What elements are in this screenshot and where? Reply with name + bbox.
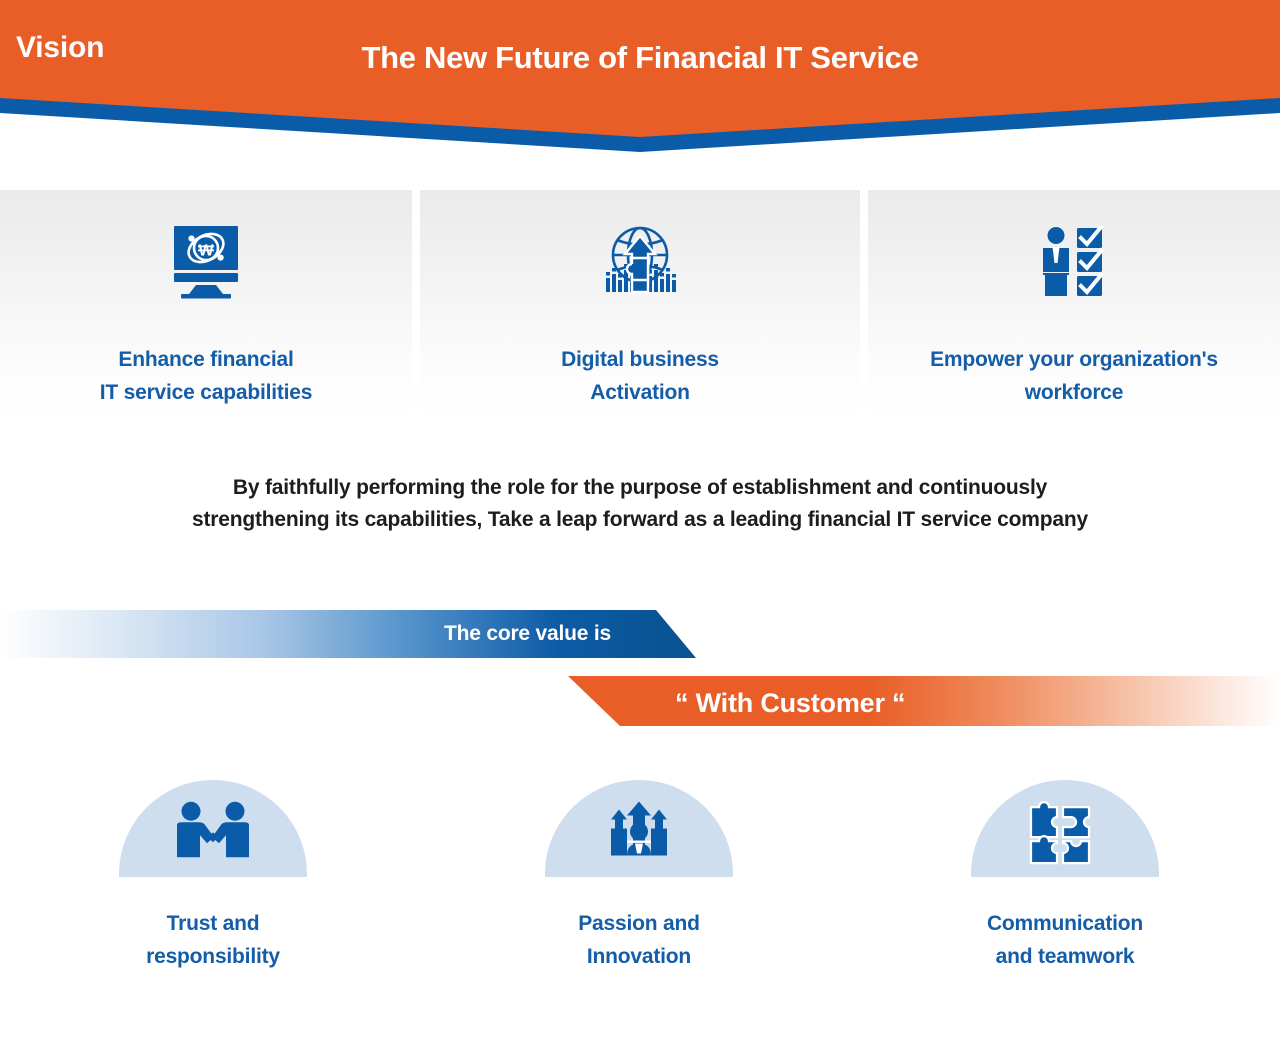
core-value-label: Trust and responsibility	[0, 908, 426, 973]
value-dome	[545, 780, 733, 877]
core-value-list: Trust and responsibility	[0, 780, 1280, 1000]
value-label-line2: Innovation	[587, 945, 691, 968]
vision-card-label: Digital business Activation	[420, 344, 860, 409]
vision-card-list: W Enhance financial IT service capabilit…	[0, 190, 1280, 422]
core-value-label: Communication and teamwork	[852, 908, 1278, 973]
card-label-line2: IT service capabilities	[100, 381, 313, 404]
card-divider	[860, 190, 868, 422]
value-label-line1: Communication	[987, 912, 1143, 935]
header-chevron-shape	[0, 0, 1280, 160]
vision-card-digital-business: Digital business Activation	[420, 190, 860, 422]
value-label-line1: Passion and	[578, 912, 700, 935]
core-value-banner: The core value is	[0, 610, 760, 658]
with-customer-banner: “ With Customer “	[540, 676, 1280, 726]
arrows-person-icon	[597, 799, 681, 866]
with-customer-banner-label: “ With Customer “	[540, 688, 1280, 719]
header-banner: Vision The New Future of Financial IT Se…	[0, 0, 1280, 160]
value-dome	[971, 780, 1159, 877]
value-label-line2: and teamwork	[996, 945, 1135, 968]
core-value-trust: Trust and responsibility	[0, 780, 426, 1000]
handshake-icon	[169, 801, 257, 864]
core-value-communication: Communication and teamwork	[852, 780, 1278, 1000]
puzzle-pieces-icon	[1023, 795, 1107, 872]
value-dome	[119, 780, 307, 877]
mission-line2: strengthening its capabilities, Take a l…	[192, 508, 1088, 531]
mission-statement: By faithfully performing the role for th…	[0, 472, 1280, 536]
card-label-line1: Digital business	[561, 348, 719, 371]
card-divider	[412, 190, 420, 422]
vision-card-enhance-financial: W Enhance financial IT service capabilit…	[0, 190, 412, 422]
card-label-line1: Enhance financial	[118, 348, 293, 371]
core-value-passion: Passion and Innovation	[426, 780, 852, 1000]
card-label-line2: Activation	[590, 381, 690, 404]
vision-card-label: Enhance financial IT service capabilitie…	[0, 344, 412, 409]
person-checklist-icon	[868, 218, 1280, 300]
globe-growth-icon	[420, 218, 860, 300]
card-label-line2: workforce	[1025, 381, 1124, 404]
card-label-line1: Empower your organization's	[930, 348, 1218, 371]
vision-card-empower-workforce: Empower your organization's workforce	[868, 190, 1280, 422]
vision-slide: Vision The New Future of Financial IT Se…	[0, 0, 1280, 1039]
core-value-label: Passion and Innovation	[426, 908, 852, 973]
core-value-banner-label: The core value is	[0, 622, 611, 646]
page-title: The New Future of Financial IT Service	[0, 38, 1280, 78]
value-label-line1: Trust and	[167, 912, 260, 935]
value-label-line2: responsibility	[146, 945, 280, 968]
mission-line1: By faithfully performing the role for th…	[233, 476, 1047, 499]
monitor-won-icon: W	[0, 218, 412, 300]
vision-card-label: Empower your organization's workforce	[868, 344, 1280, 409]
